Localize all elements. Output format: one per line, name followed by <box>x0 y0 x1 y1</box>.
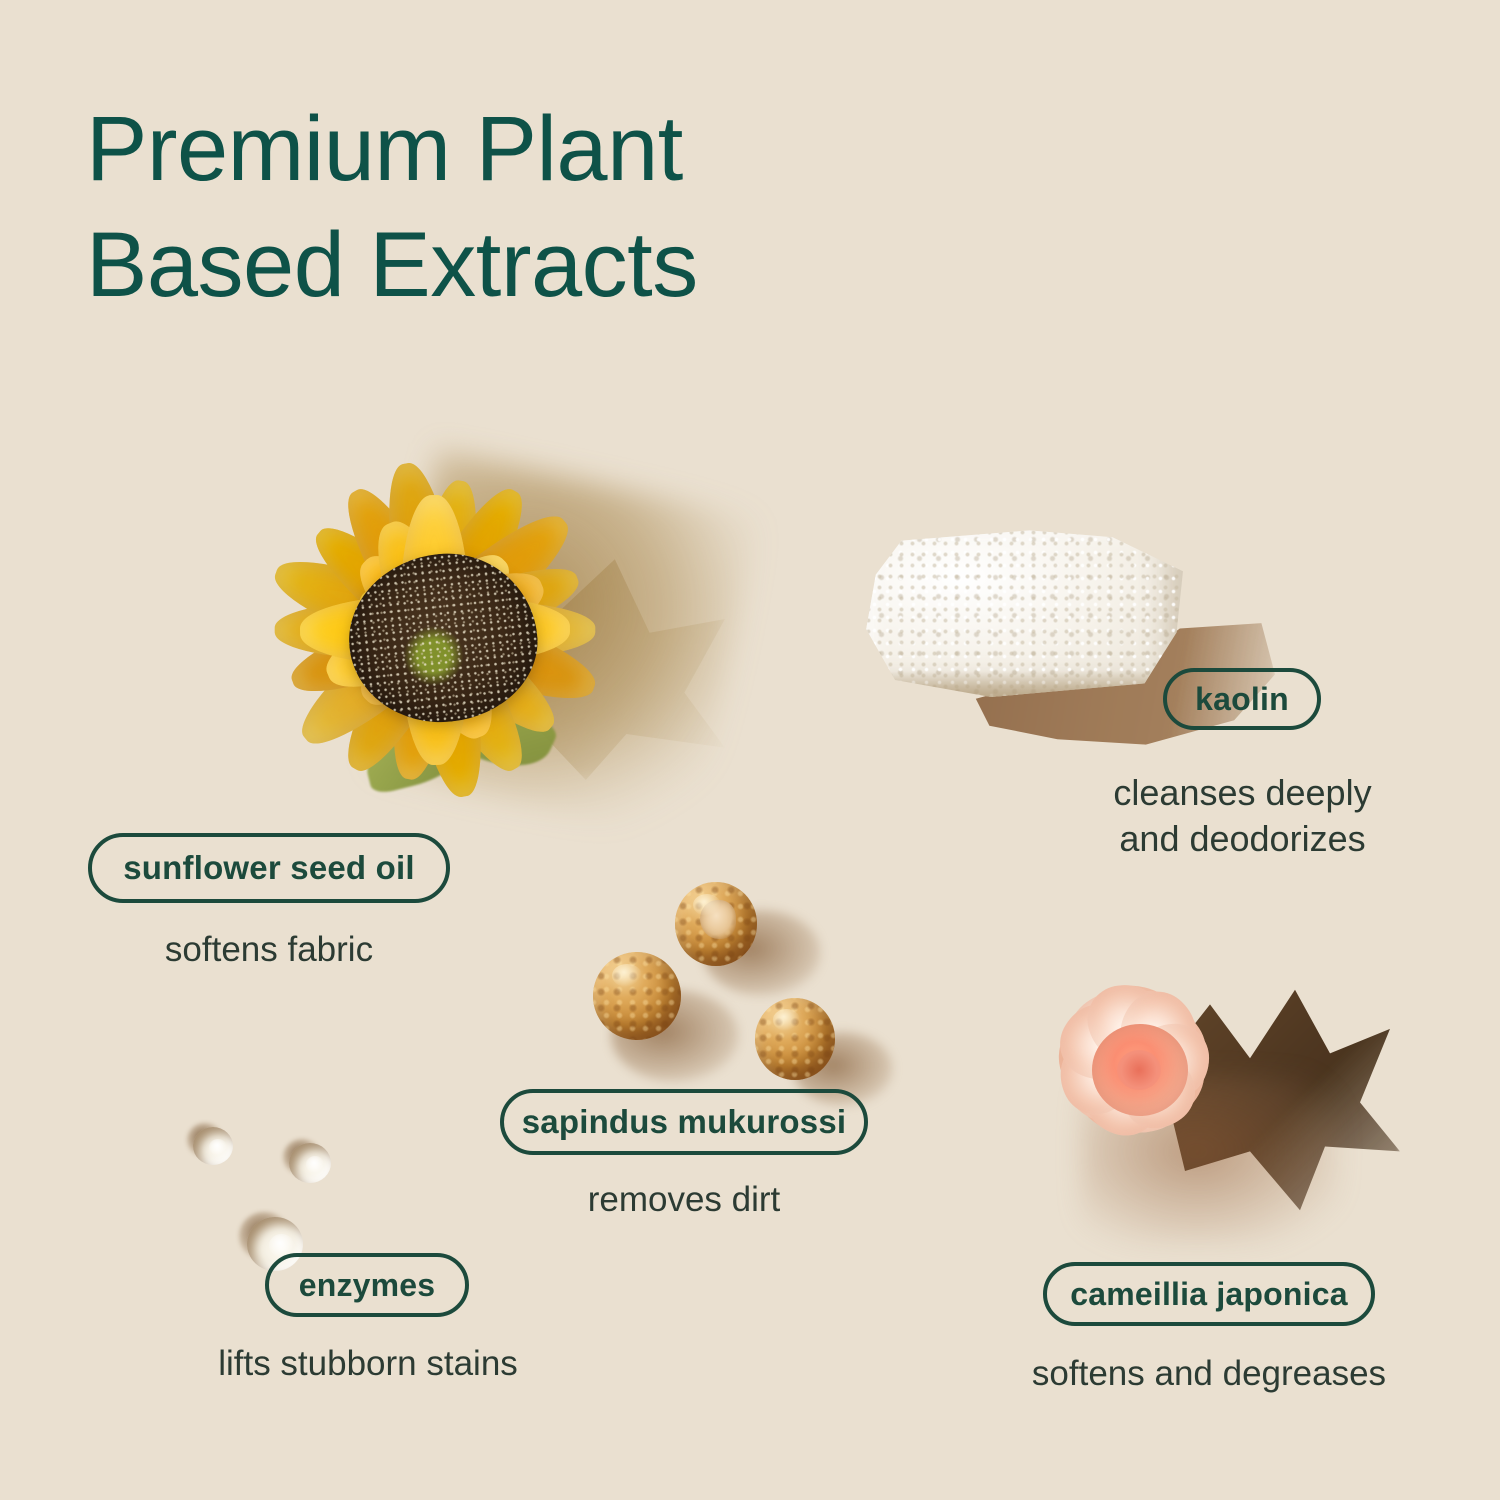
caption-cameillia-japonica: softens and degreases <box>1018 1352 1400 1397</box>
label-pill-cameillia-japonica[interactable]: cameillia japonica <box>1043 1262 1375 1326</box>
label-text: sapindus mukurossi <box>522 1103 847 1141</box>
soap-nut <box>593 952 681 1040</box>
label-text: sunflower seed oil <box>123 849 415 887</box>
caption-sunflower-seed-oil: softens fabric <box>88 928 450 973</box>
label-pill-sapindus-mukurossi[interactable]: sapindus mukurossi <box>500 1089 868 1155</box>
label-text: cameillia japonica <box>1070 1276 1348 1313</box>
kaolin-rock <box>863 527 1183 697</box>
label-text: enzymes <box>299 1267 436 1304</box>
caption-enzymes: lifts stubborn stains <box>190 1342 546 1387</box>
soap-nuts-photo <box>585 880 885 1100</box>
sunflower-disc <box>341 545 546 732</box>
page-title: Premium Plant Based Extracts <box>86 92 986 324</box>
caption-kaolin: cleanses deeply and deodorizes <box>1050 770 1435 861</box>
label-text: kaolin <box>1195 681 1289 718</box>
label-pill-sunflower-seed-oil[interactable]: sunflower seed oil <box>88 833 450 903</box>
camellia-flower-photo <box>960 895 1400 1285</box>
infographic-canvas: Premium Plant Based Extracts <box>0 0 1500 1500</box>
sunflower-photo <box>185 400 705 880</box>
soap-nut <box>755 998 835 1080</box>
enzyme-granule <box>289 1143 331 1183</box>
label-pill-enzymes[interactable]: enzymes <box>265 1253 469 1317</box>
label-pill-kaolin[interactable]: kaolin <box>1163 668 1321 730</box>
soap-nut <box>675 882 757 966</box>
enzyme-granule <box>193 1127 233 1165</box>
camellia-center <box>1092 1024 1188 1116</box>
caption-sapindus-mukurossi: removes dirt <box>500 1178 868 1223</box>
